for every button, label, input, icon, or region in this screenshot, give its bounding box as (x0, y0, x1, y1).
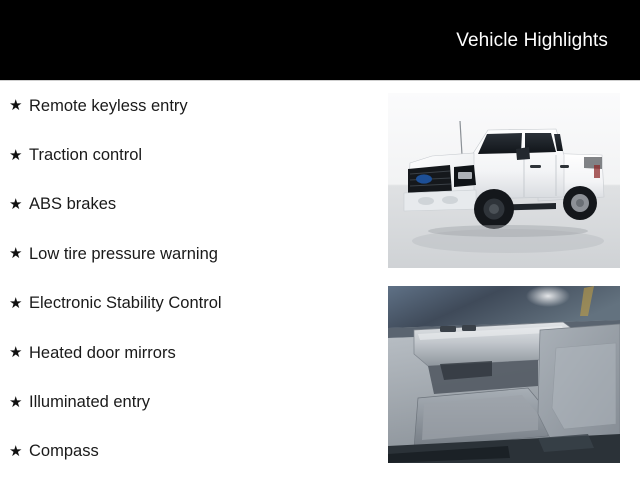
list-item: ★ Electronic Stability Control (0, 279, 380, 328)
list-item-label: Heated door mirrors (29, 343, 176, 363)
content-area: ★ Remote keyless entry ★ Traction contro… (0, 81, 640, 480)
vehicle-exterior-photo (388, 93, 620, 268)
vehicle-interior-door-panel-photo (388, 286, 620, 463)
page-header: Vehicle Highlights (0, 0, 640, 80)
star-bullet-icon: ★ (9, 395, 29, 410)
star-bullet-icon: ★ (9, 345, 29, 360)
list-item: ★ Compass (0, 427, 380, 476)
interior-photo-graphic (388, 286, 620, 463)
list-item-label: Remote keyless entry (29, 96, 188, 116)
interior-photo-frame (388, 286, 620, 463)
list-item: ★ Remote keyless entry (0, 81, 380, 130)
star-bullet-icon: ★ (9, 444, 29, 459)
star-bullet-icon: ★ (9, 98, 29, 113)
vehicle-highlights-list: ★ Remote keyless entry ★ Traction contro… (0, 81, 380, 476)
page-title: Vehicle Highlights (456, 29, 608, 52)
list-item-label: Traction control (29, 145, 142, 165)
list-item-label: Illuminated entry (29, 392, 150, 412)
star-bullet-icon: ★ (9, 296, 29, 311)
exterior-photo-frame (388, 93, 620, 268)
star-bullet-icon: ★ (9, 148, 29, 163)
list-item-label: Electronic Stability Control (29, 293, 222, 313)
list-item: ★ ABS brakes (0, 180, 380, 229)
star-bullet-icon: ★ (9, 246, 29, 261)
list-item: ★ Low tire pressure warning (0, 229, 380, 278)
list-item: ★ Illuminated entry (0, 377, 380, 426)
list-item-label: ABS brakes (29, 194, 116, 214)
list-item: ★ Heated door mirrors (0, 328, 380, 377)
list-item-label: Compass (29, 441, 99, 461)
list-item-label: Low tire pressure warning (29, 244, 218, 264)
star-bullet-icon: ★ (9, 197, 29, 212)
list-item: ★ Traction control (0, 130, 380, 179)
exterior-photo-graphic (388, 93, 620, 268)
